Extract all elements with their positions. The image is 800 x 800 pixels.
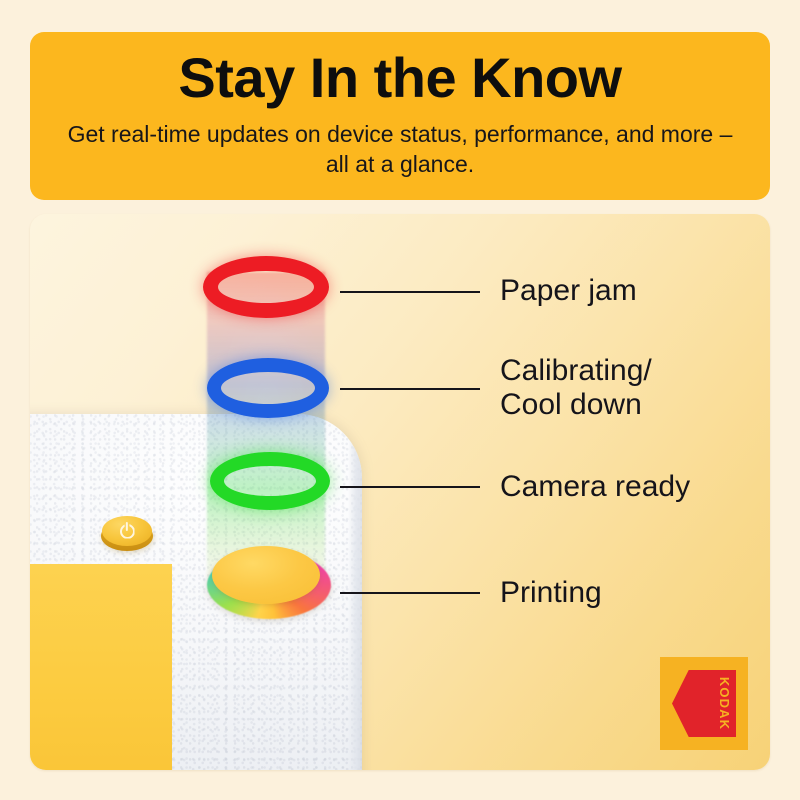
kodak-k-mark-icon — [672, 670, 716, 737]
led-ring-camera-ready — [210, 452, 330, 510]
power-button[interactable] — [100, 516, 156, 556]
kodak-wordmark-bar: KODAK — [714, 670, 736, 737]
indicator-label-camera-ready: Camera ready — [500, 470, 690, 504]
page-title: Stay In the Know — [178, 49, 621, 108]
power-icon — [120, 524, 135, 539]
indicator-label-calibrating: Calibrating/ Cool down — [500, 354, 652, 422]
leader-line-paper-jam — [340, 291, 480, 293]
kodak-logo-inner: KODAK — [672, 670, 736, 737]
led-ring-calibrating — [207, 358, 329, 418]
light-column — [207, 272, 325, 584]
indicator-label-paper-jam: Paper jam — [500, 274, 637, 308]
kodak-wordmark: KODAK — [718, 677, 733, 730]
leader-line-calibrating — [340, 388, 480, 390]
leader-line-printing — [340, 592, 480, 594]
power-button-top — [102, 516, 152, 546]
page-subtitle: Get real-time updates on device status, … — [60, 119, 740, 180]
kodak-logo: KODAK — [660, 657, 748, 750]
led-ring-paper-jam — [203, 256, 329, 318]
printer-yellow-base — [30, 564, 172, 770]
infographic-stage: Stay In the Know Get real-time updates o… — [0, 0, 800, 800]
header-banner: Stay In the Know Get real-time updates o… — [30, 32, 770, 200]
printing-button-face — [212, 546, 320, 604]
indicator-label-printing: Printing — [500, 576, 602, 610]
leader-line-camera-ready — [340, 486, 480, 488]
